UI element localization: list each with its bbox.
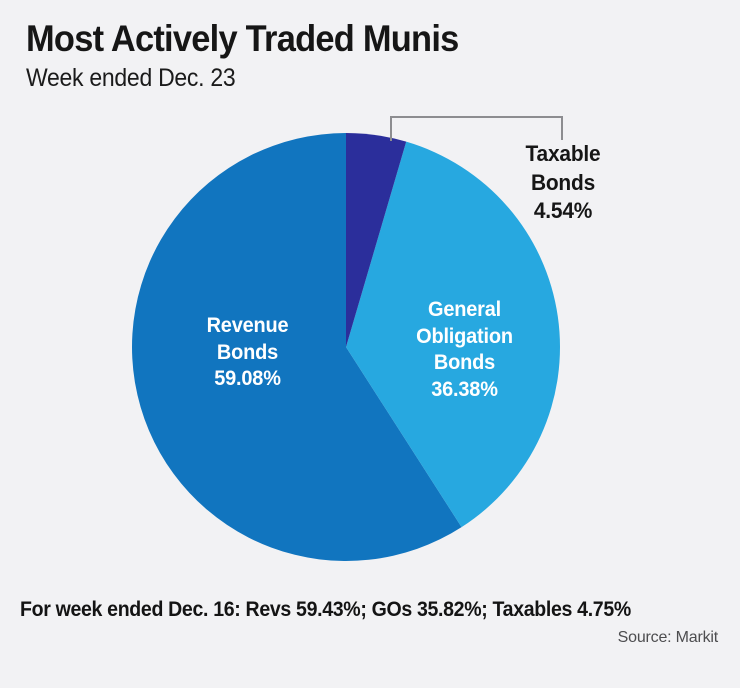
source-attribution: Source: Markit	[618, 629, 718, 647]
pie-callout-taxable-bonds-value: 4.54%	[501, 197, 625, 226]
pie-callout-taxable-bonds-line1: Taxable	[501, 140, 625, 169]
pie-chart-area: Revenue Bonds 59.08% General Obligation …	[0, 0, 740, 600]
pie-callout-taxable-bonds: Taxable Bonds 4.54%	[501, 140, 625, 226]
pie-callout-taxable-bonds-line2: Bonds	[501, 169, 625, 198]
prior-week-note: For week ended Dec. 16: Revs 59.43%; GOs…	[20, 598, 631, 622]
pie-chart-svg	[0, 0, 740, 600]
callout-leader-line	[391, 117, 562, 141]
chart-canvas: Most Actively Traded Munis Week ended De…	[0, 0, 740, 688]
